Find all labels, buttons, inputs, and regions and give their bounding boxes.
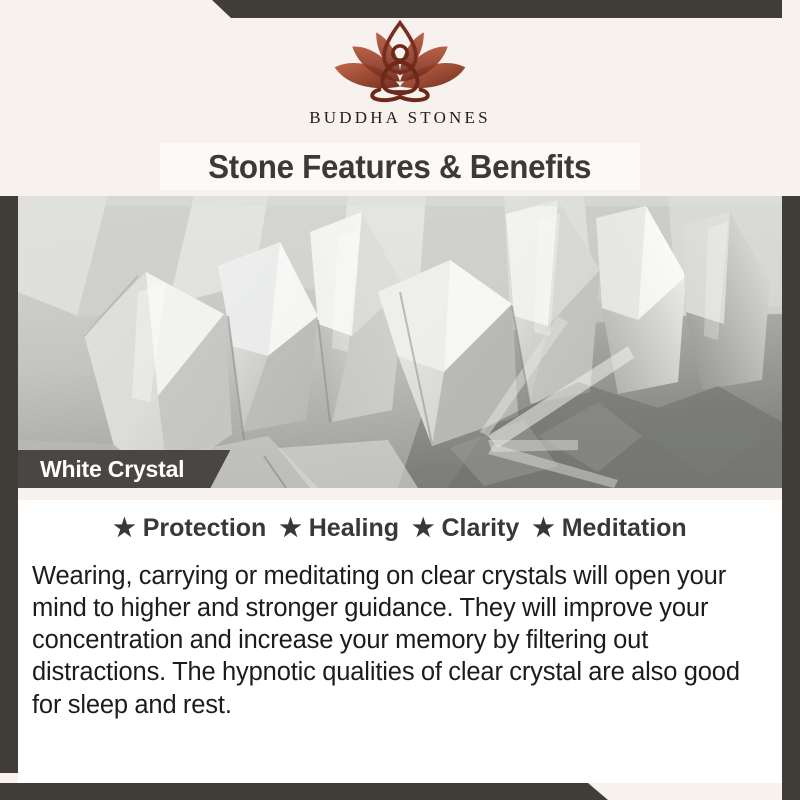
star-icon: ★ <box>532 516 554 541</box>
stone-photo <box>18 196 782 488</box>
stone-name-banner: White Crystal <box>18 450 230 488</box>
star-icon: ★ <box>412 516 434 541</box>
frame-right-top-mask <box>782 0 800 196</box>
infographic-card: BUDDHA STONES Stone Features & Benefits <box>0 0 800 800</box>
content-top-tint <box>18 488 782 500</box>
header-section: BUDDHA STONES Stone Features & Benefits <box>0 0 800 196</box>
benefit-label: Protection <box>143 514 267 543</box>
benefit-item-clarity: ★ Clarity <box>412 514 519 543</box>
benefit-item-healing: ★ Healing <box>279 514 399 543</box>
brand-logo: BUDDHA STONES <box>0 18 800 128</box>
page-title-bar: Stone Features & Benefits <box>160 143 640 190</box>
benefits-row: ★ Protection ★ Healing ★ Clarity ★ Medit… <box>18 514 782 543</box>
star-icon: ★ <box>279 516 301 541</box>
frame-bottom-border <box>0 783 800 800</box>
star-icon: ★ <box>113 516 135 541</box>
page-title: Stone Features & Benefits <box>208 148 591 186</box>
content-section: ★ Protection ★ Healing ★ Clarity ★ Medit… <box>18 488 782 783</box>
benefit-label: Meditation <box>562 514 687 543</box>
benefit-item-protection: ★ Protection <box>113 514 266 543</box>
benefit-label: Clarity <box>441 514 519 543</box>
lotus-meditation-icon <box>320 18 480 104</box>
brand-name: BUDDHA STONES <box>0 108 800 128</box>
frame-left-top-mask <box>0 0 18 196</box>
frame-left-bottom-mask <box>0 773 18 783</box>
benefit-item-meditation: ★ Meditation <box>532 514 686 543</box>
description-text: Wearing, carrying or meditating on clear… <box>32 560 762 721</box>
benefit-label: Healing <box>309 514 399 543</box>
stone-name: White Crystal <box>40 456 184 483</box>
